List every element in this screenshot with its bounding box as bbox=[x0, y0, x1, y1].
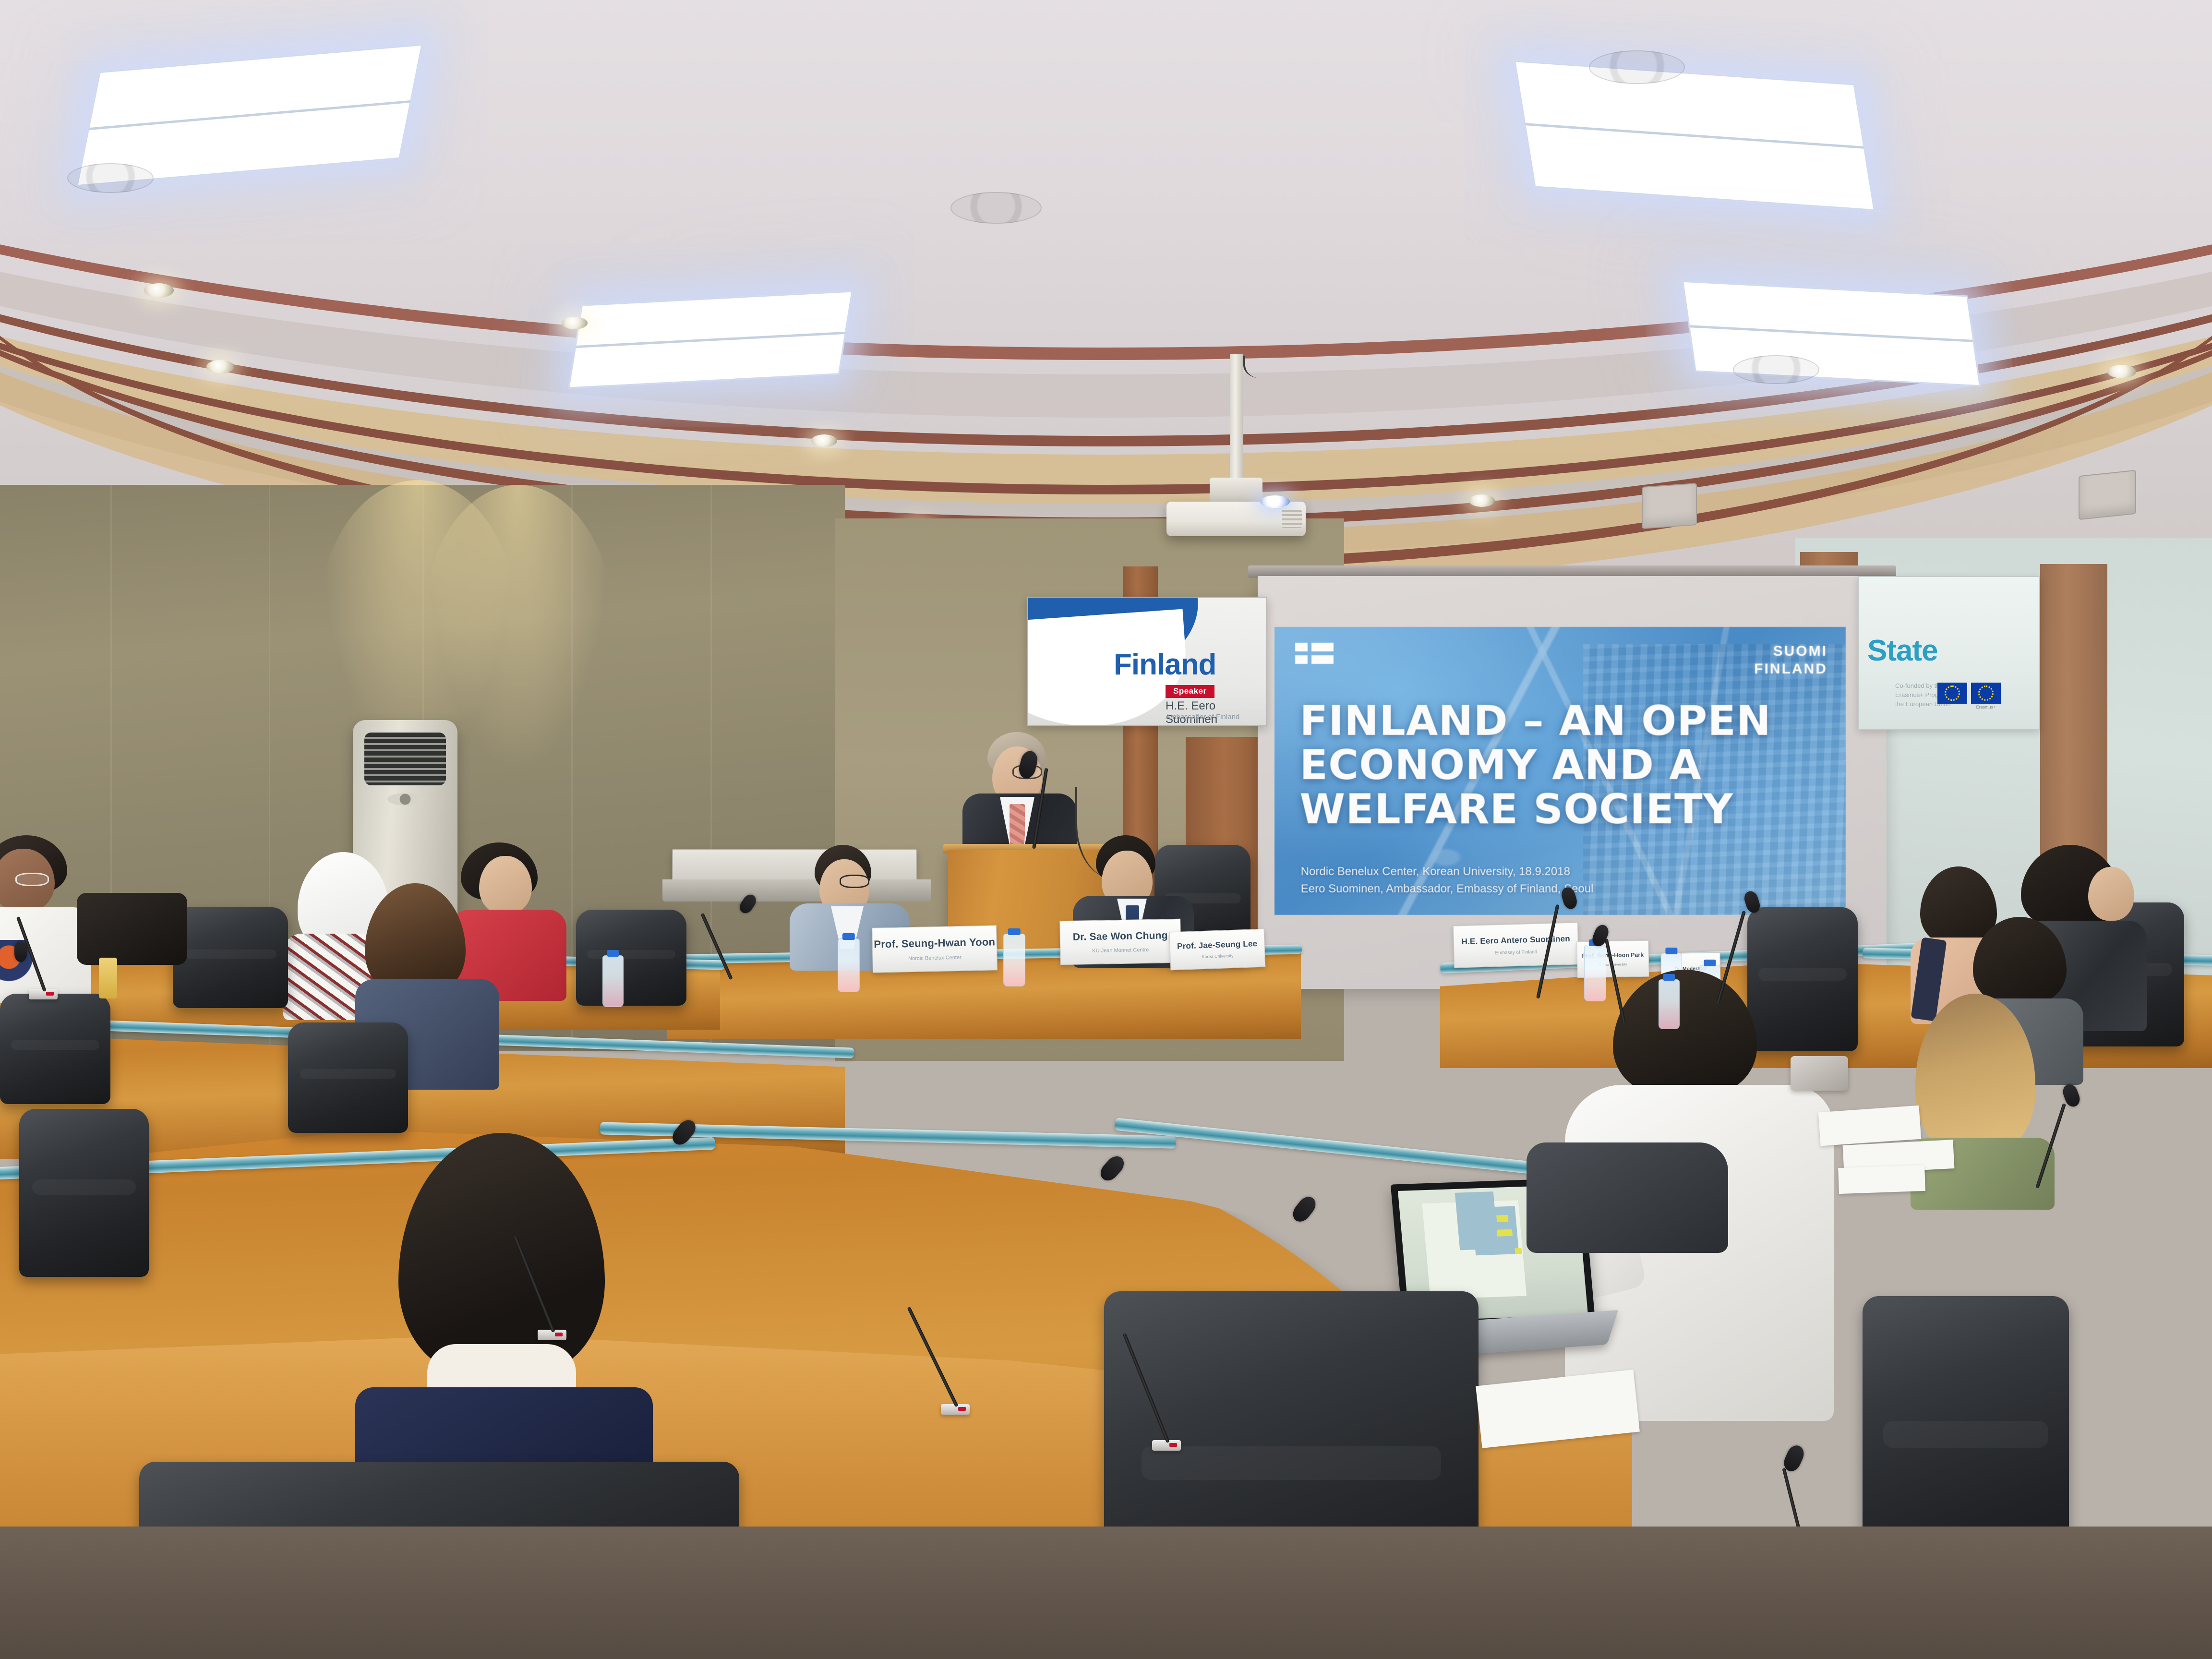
placard: Prof. Jae-Seung Lee Korea University bbox=[1169, 929, 1266, 971]
ceiling-vent bbox=[950, 192, 1042, 224]
eu-flag-icon bbox=[1937, 683, 1967, 704]
placard-name: Prof. Jae-Seung Lee bbox=[1177, 939, 1258, 951]
slide-org-mark: SUOMI FINLAND bbox=[1754, 643, 1827, 678]
handbag bbox=[77, 893, 187, 965]
projector-vent bbox=[1282, 510, 1302, 528]
ceiling-speaker bbox=[1642, 483, 1697, 529]
slide-title-line1: FINLAND – AN OPEN bbox=[1299, 699, 1823, 743]
placard-org: Nordic Benelux Center bbox=[908, 955, 962, 962]
audience-glasses bbox=[15, 873, 49, 886]
slide-title-line3: WELFARE SOCIETY bbox=[1299, 787, 1823, 831]
placard-org: KU Jean Monnet Centre bbox=[1092, 947, 1149, 953]
placard-name: Prof. Seung-Hwan Yoon bbox=[874, 936, 995, 950]
audience-chair bbox=[288, 1022, 408, 1133]
water-bottle bbox=[1659, 979, 1680, 1029]
bottle-juice bbox=[99, 958, 117, 998]
slide-title-line2: ECONOMY AND A bbox=[1299, 743, 1823, 787]
banner-state: State Co-funded by the Erasmus+ Programm… bbox=[1858, 576, 2040, 730]
ceiling-vent bbox=[1589, 50, 1685, 84]
slide-org-line1: SUOMI bbox=[1754, 643, 1827, 661]
laptop-highlight bbox=[1496, 1215, 1508, 1222]
slide-title: FINLAND – AN OPEN ECONOMY AND A WELFARE … bbox=[1299, 699, 1823, 831]
water-bottle bbox=[838, 938, 860, 992]
ceiling-downlight bbox=[1469, 494, 1495, 507]
paper-sheet bbox=[1818, 1106, 1921, 1146]
placard: Dr. Sae Won Chung KU Jean Monnet Centre bbox=[1059, 919, 1181, 965]
projector-bracket bbox=[1210, 478, 1262, 505]
slide-org-line2: FINLAND bbox=[1754, 661, 1827, 678]
laptop-highlight bbox=[1515, 1248, 1522, 1254]
ceiling-vent bbox=[67, 163, 154, 193]
microphone-head bbox=[1289, 1193, 1320, 1226]
banner-finland: Finland Speaker H.E. Eero Suominen Ambas… bbox=[1027, 597, 1267, 726]
placard-org: Embassy of Finland bbox=[1495, 949, 1537, 955]
lecture-hall-photo: SUOMI FINLAND FINLAND – AN OPEN ECONOMY … bbox=[0, 0, 2212, 1659]
audience-hair-blonde bbox=[1915, 994, 2035, 1152]
laptop-user-hair bbox=[1613, 970, 1757, 1094]
air-conditioner-grille bbox=[364, 733, 446, 785]
audience-hair-ponytail bbox=[365, 883, 466, 994]
water-bottle bbox=[602, 955, 624, 1007]
ceiling-light-panel bbox=[568, 290, 853, 388]
audience-chair bbox=[576, 910, 686, 1006]
ceiling-downlight bbox=[2107, 365, 2136, 378]
slide-subtitle: Nordic Benelux Center, Korean University… bbox=[1301, 863, 1594, 898]
ceiling-downlight bbox=[562, 317, 588, 329]
ceiling-light-panel bbox=[1514, 60, 1875, 211]
finland-flag-icon bbox=[1295, 643, 1334, 669]
slide-subtitle-line2: Eero Suominen, Ambassador, Embassy of Fi… bbox=[1301, 880, 1594, 898]
projector-lens bbox=[1260, 495, 1290, 508]
ceiling-downlight bbox=[206, 360, 234, 373]
front-desk-edge bbox=[1114, 1118, 1569, 1178]
bag-dark bbox=[1527, 1142, 1728, 1253]
smartphone[interactable] bbox=[1791, 1056, 1848, 1091]
audience-head bbox=[2088, 867, 2134, 921]
audience-chair bbox=[0, 994, 110, 1104]
placard: Prof. Seung-Hwan Yoon Nordic Benelux Cen… bbox=[872, 925, 998, 973]
projected-slide: SUOMI FINLAND FINLAND – AN OPEN ECONOMY … bbox=[1274, 627, 1846, 915]
front-row-hair bbox=[398, 1133, 605, 1373]
audience-chair bbox=[173, 907, 288, 1008]
air-conditioner-knob bbox=[387, 793, 423, 805]
laptop-highlight bbox=[1497, 1229, 1513, 1237]
ceiling-light-panel bbox=[1682, 281, 1981, 387]
projector-mount-pole bbox=[1230, 354, 1243, 481]
panelist-glasses bbox=[840, 875, 869, 888]
microphone-head bbox=[1097, 1153, 1128, 1184]
ceiling-speaker bbox=[2079, 470, 2136, 520]
water-bottle bbox=[1003, 934, 1025, 986]
placard-org: Korea University bbox=[1202, 953, 1233, 959]
audience-chair bbox=[19, 1109, 149, 1277]
paper-sheet bbox=[1838, 1165, 1925, 1194]
placard-name: H.E. Eero Antero Suominen bbox=[1461, 934, 1570, 946]
placard: H.E. Eero Antero Suominen Embassy of Fin… bbox=[1453, 922, 1579, 968]
microphone-head bbox=[14, 941, 27, 962]
ceiling-vent bbox=[1733, 355, 1819, 384]
ceiling-downlight bbox=[144, 283, 174, 298]
banner-country-label: Finland bbox=[1114, 648, 1216, 682]
eu-flag-caption: Erasmus+ bbox=[1971, 705, 2001, 709]
eu-flag-icon bbox=[1971, 683, 2001, 704]
ceiling-downlight bbox=[811, 434, 837, 447]
slide-subtitle-line1: Nordic Benelux Center, Korean University… bbox=[1301, 863, 1594, 880]
placard-name: Dr. Sae Won Chung bbox=[1073, 930, 1168, 943]
banner-speaker-subtitle: Ambassador of Finland bbox=[1166, 713, 1239, 721]
banner-state-word: State bbox=[1867, 634, 1938, 668]
speaker-badge: Speaker bbox=[1166, 685, 1214, 698]
floor bbox=[0, 1527, 2212, 1659]
audience-hair bbox=[1973, 917, 2067, 1003]
